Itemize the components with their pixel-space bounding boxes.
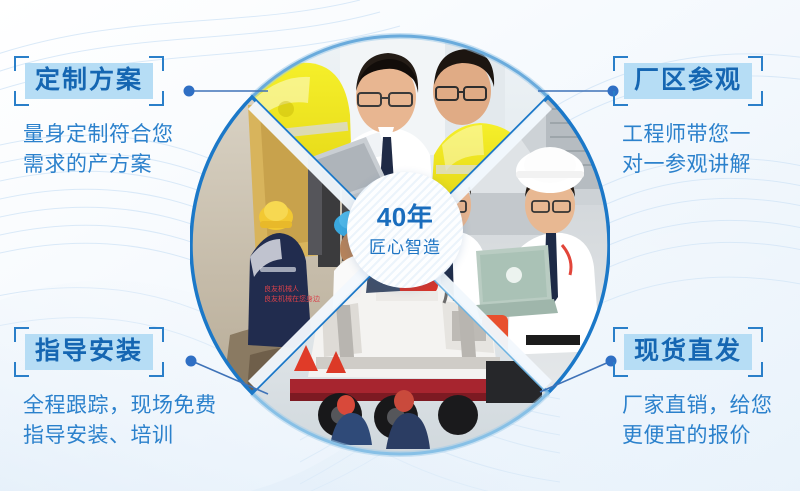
badge-frame-factory-visit: 厂区参观 [613,56,763,106]
center-subline: 匠心智造 [369,239,441,256]
feature-badge-label: 定制方案 [25,63,153,99]
feature-factory-visit[interactable]: 厂区参观 工程师带您一 对一参观讲解 [613,56,763,180]
desc-line-2: 对一参观讲解 [622,150,763,180]
feature-description: 全程跟踪，现场免费 指导安装、培训 [14,391,217,451]
badge-frame-in-stock-shipping: 现货直发 [613,327,763,377]
feature-custom-solution[interactable]: 定制方案 量身定制符合您 需求的产方案 [14,56,174,180]
desc-line-2: 更便宜的报价 [622,421,773,451]
desc-line-2: 指导安装、培训 [23,421,217,451]
desc-line-1: 全程跟踪，现场免费 [23,391,217,421]
desc-line-1: 厂家直销，给您 [622,391,773,421]
promo-banner: 良友机械人 良友机械在您身边 40年 匠心智造 [0,0,800,491]
center-badge: 40年 匠心智造 [347,172,463,288]
feature-in-stock-shipping[interactable]: 现货直发 厂家直销，给您 更便宜的报价 [613,327,773,451]
desc-line-2: 需求的产方案 [23,150,174,180]
badge-frame-custom-solution: 定制方案 [14,56,164,106]
desc-line-1: 量身定制符合您 [23,120,174,150]
feature-description: 工程师带您一 对一参观讲解 [613,120,763,180]
feature-description: 厂家直销，给您 更便宜的报价 [613,391,773,451]
feature-description: 量身定制符合您 需求的产方案 [14,120,174,180]
feature-badge-label: 指导安装 [25,334,153,370]
desc-line-1: 工程师带您一 [622,120,763,150]
badge-frame-installation-guidance: 指导安装 [14,327,164,377]
center-headline: 40年 [377,204,433,230]
feature-badge-label: 厂区参观 [624,63,752,99]
svg-text:良友机械在您身边: 良友机械在您身边 [264,294,320,303]
feature-installation-guidance[interactable]: 指导安装 全程跟踪，现场免费 指导安装、培训 [14,327,217,451]
feature-badge-label: 现货直发 [624,334,752,370]
svg-text:良友机械人: 良友机械人 [264,284,299,293]
